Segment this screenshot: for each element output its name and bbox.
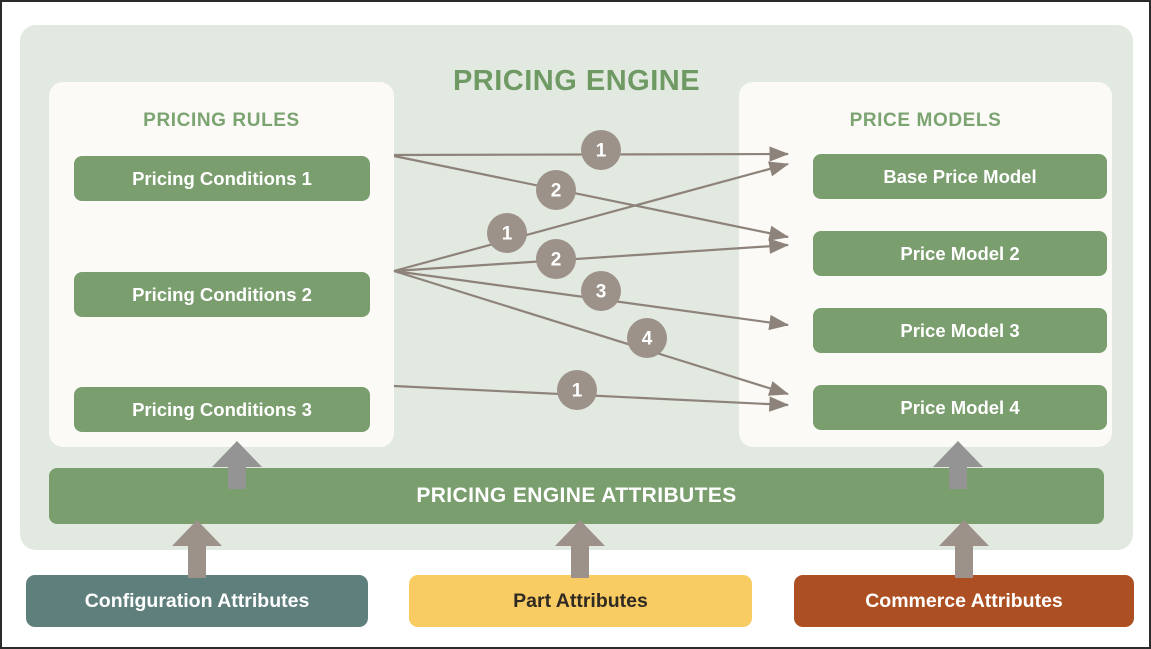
connector-badge-2b: 2 — [536, 239, 576, 279]
connector-line-pc1-base — [394, 154, 788, 155]
connector-line-pc2-base — [394, 164, 788, 271]
price-model-4-box[interactable]: Price Model 4 — [813, 385, 1107, 430]
price-model-2-box[interactable]: Price Model 2 — [813, 231, 1107, 276]
price-model-3-box[interactable]: Price Model 3 — [813, 308, 1107, 353]
connector-badge-label: 2 — [551, 250, 562, 271]
price-models-panel: PRICE MODELS Base Price Model Price Mode… — [739, 82, 1112, 447]
connector-line-pc2-pm4 — [394, 271, 788, 394]
connector-badge-3: 3 — [581, 271, 621, 311]
diagram-canvas: PRICING ENGINE PRICING RULES Pricing Con… — [0, 0, 1151, 649]
connector-line-pc2-pm2 — [394, 245, 788, 271]
connector-badge-label: 1 — [596, 141, 607, 162]
connector-badge-label: 2 — [551, 181, 562, 202]
up-arrow-icon-to-price-models — [933, 441, 983, 489]
pricing-engine-panel: PRICING ENGINE PRICING RULES Pricing Con… — [20, 25, 1133, 550]
up-arrow-icon-configuration — [172, 520, 222, 578]
commerce-attributes-box[interactable]: Commerce Attributes — [794, 575, 1134, 627]
connector-badge-label: 1 — [502, 224, 513, 245]
part-attributes-box[interactable]: Part Attributes — [409, 575, 752, 627]
connector-badge-label: 1 — [572, 381, 583, 402]
pricing-conditions-2-box[interactable]: Pricing Conditions 2 — [74, 272, 370, 317]
connector-badge-label: 3 — [596, 282, 607, 303]
connector-badge-4: 4 — [627, 318, 667, 358]
pricing-rules-panel: PRICING RULES Pricing Conditions 1 Prici… — [49, 82, 394, 447]
pricing-rules-title: PRICING RULES — [49, 110, 394, 132]
configuration-attributes-box[interactable]: Configuration Attributes — [26, 575, 368, 627]
up-arrow-icon-commerce — [939, 520, 989, 578]
base-price-model-box[interactable]: Base Price Model — [813, 154, 1107, 199]
up-arrow-icon-to-pricing-rules — [212, 441, 262, 489]
connector-badge-label: 4 — [642, 329, 653, 350]
up-arrow-icon-part — [555, 520, 605, 578]
pricing-conditions-1-box[interactable]: Pricing Conditions 1 — [74, 156, 370, 201]
connector-line-pc1-pm2 — [394, 156, 788, 237]
price-models-title: PRICE MODELS — [739, 110, 1112, 132]
pricing-conditions-3-box[interactable]: Pricing Conditions 3 — [74, 387, 370, 432]
connector-badge-1c: 1 — [557, 370, 597, 410]
connector-badge-1b: 1 — [487, 213, 527, 253]
connector-line-pc3-pm4 — [394, 386, 788, 405]
connector-line-pc2-pm3 — [394, 271, 788, 325]
connector-badge-2a: 2 — [536, 170, 576, 210]
connector-badge-1a: 1 — [581, 130, 621, 170]
